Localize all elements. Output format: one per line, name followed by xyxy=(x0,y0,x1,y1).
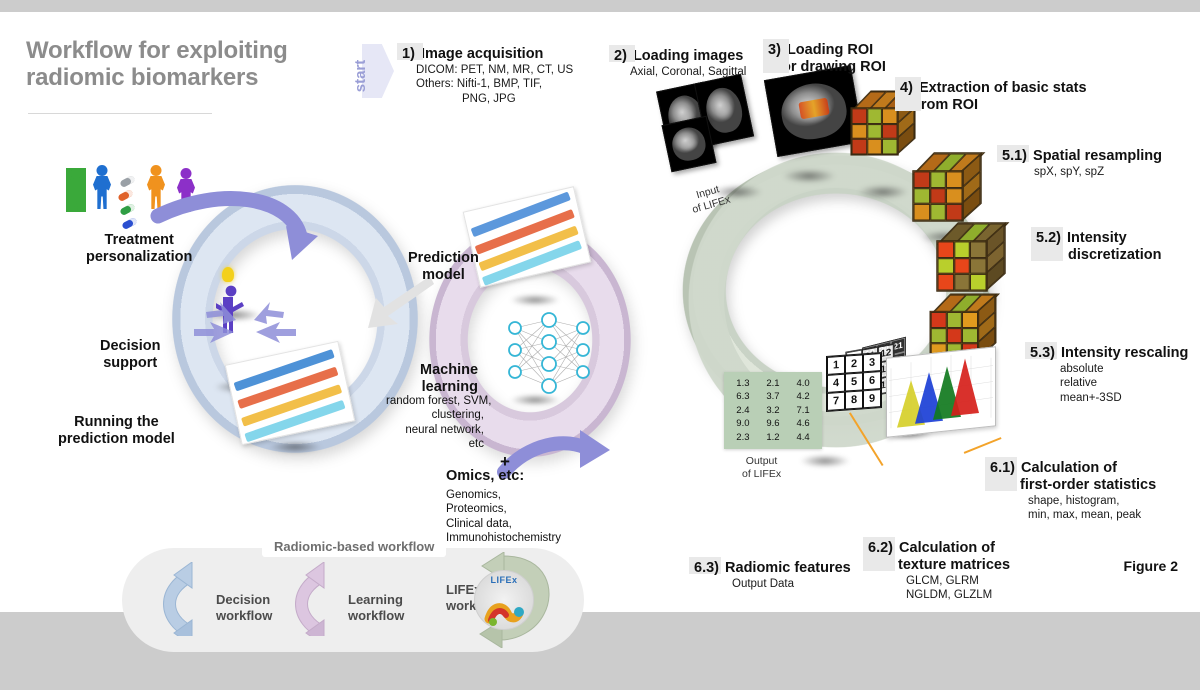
step-5-1-sub: spX, spY, spZ xyxy=(1034,165,1162,179)
page-title: Workflow for exploiting radiomic biomark… xyxy=(26,38,356,92)
texture-matrix-front: 123 456 789 xyxy=(826,352,882,412)
step-1-sub: DICOM: PET, NM, MR, CT, US Others: Nifti… xyxy=(416,63,573,106)
step-6-1-sub: shape, histogram, min, max, mean, peak xyxy=(1028,494,1156,523)
lifex-logo: LIFEx xyxy=(474,570,534,630)
ring-shadow xyxy=(500,292,570,308)
table-row: 2.43.27.1 xyxy=(730,404,816,417)
step-5-2-title-line2: discretization xyxy=(1068,247,1161,264)
neural-network-icon xyxy=(505,312,593,396)
step-1: 1) Image acquisition DICOM: PET, NM, MR,… xyxy=(400,46,573,106)
step-2-title: Loading images xyxy=(633,48,743,64)
legend-title: Radiomic-based workflow xyxy=(262,536,446,557)
step-4-header: 4) Extraction of basic stats from ROI xyxy=(898,80,1087,114)
output-note-line1: Output xyxy=(742,455,781,468)
step-1-number: 1) xyxy=(400,46,417,63)
decision-support-label: Decision support xyxy=(100,338,160,373)
legend-item-learning: Learning workflow xyxy=(348,592,404,623)
voxel-cube-5-2 xyxy=(936,222,1005,291)
step-1-header: 1) Image acquisition xyxy=(400,46,573,63)
step-6-3-title: Radiomic features xyxy=(725,560,851,576)
step-5-1: 5.1) Spatial resampling spX, spY, spZ xyxy=(1000,148,1162,179)
omics-sub: Genomics, Proteomics, Clinical data, Imm… xyxy=(446,488,561,546)
step-2-header: 2) Loading images xyxy=(612,48,746,65)
step-6-3-sub: Output Data xyxy=(732,577,851,591)
step-3-number: 3) xyxy=(766,42,783,59)
omics-title: Omics, etc: xyxy=(446,468,524,485)
learning-workflow-arrow-icon xyxy=(280,562,334,636)
prediction-model-label: Prediction model xyxy=(408,250,479,285)
lightbulb-icon xyxy=(222,267,234,282)
step-5-3-title: Intensity rescaling xyxy=(1061,345,1188,361)
ring-shadow xyxy=(790,452,860,470)
running-prediction-model-label: Running the prediction model xyxy=(58,414,175,449)
decision-spread-arrows-icon xyxy=(180,296,310,356)
person-icon-blue xyxy=(92,165,112,209)
machine-learning-label: Machine learning xyxy=(420,362,478,397)
step-5-2: 5.2) Intensity discretization xyxy=(1034,230,1161,264)
table-row: 2.31.24.4 xyxy=(730,431,816,444)
output-of-lifex-note: Output of LIFEx xyxy=(742,455,781,480)
step-2: 2) Loading images Axial, Coronal, Sagitt… xyxy=(612,48,746,79)
decision-workflow-arrow-icon xyxy=(148,562,202,636)
step-5-3-number: 5.3) xyxy=(1028,345,1057,362)
start-label: start xyxy=(332,54,388,98)
step-3-title-line2: or drawing ROI xyxy=(782,59,886,76)
step-5-3: 5.3) Intensity rescaling absolute relati… xyxy=(1028,345,1188,405)
step-4-title-line1: Extraction of basic stats xyxy=(919,80,1087,96)
step-5-1-number: 5.1) xyxy=(1000,148,1029,165)
step-5-2-title-line1: Intensity xyxy=(1067,230,1127,246)
step-6-1: 6.1) Calculation of first-order statisti… xyxy=(988,460,1156,523)
step-6-1-number: 6.1) xyxy=(988,460,1017,477)
voxel-cube-5-1 xyxy=(912,152,981,221)
step-3-header: 3) Loading ROI or drawing ROI xyxy=(766,42,886,76)
step-2-number: 2) xyxy=(612,48,629,65)
histogram-svg xyxy=(887,347,995,436)
output-data-table: 1.32.14.0 6.33.74.2 2.43.27.1 9.09.64.6 … xyxy=(724,372,822,449)
legend-item-decision: Decision workflow xyxy=(216,592,272,623)
step-6-2-title-line1: Calculation of xyxy=(899,540,995,556)
step-6-1-title-line1: Calculation of xyxy=(1021,460,1117,476)
step-4-title-line2: from ROI xyxy=(916,97,1087,114)
page-title-line2: radiomic biomarkers xyxy=(26,65,356,92)
step-6-2-header: 6.2) Calculation of texture matrices xyxy=(866,540,1010,574)
step-5-3-sub: absolute relative mean+-3SD xyxy=(1060,362,1188,405)
ring-shadow xyxy=(772,166,846,186)
step-6-3-header: 6.3) Radiomic features xyxy=(692,560,851,577)
step-6-1-title-line2: first-order statistics xyxy=(1020,477,1156,494)
step-5-1-header: 5.1) Spatial resampling xyxy=(1000,148,1162,165)
step-1-title: Image acquisition xyxy=(421,46,543,62)
table-row: 9.09.64.6 xyxy=(730,417,816,430)
step-5-1-title: Spatial resampling xyxy=(1033,148,1162,164)
step-4: 4) Extraction of basic stats from ROI xyxy=(898,80,1087,114)
figure-caption: Figure 2 xyxy=(1124,558,1178,574)
histogram-plot xyxy=(886,346,996,438)
step-4-number: 4) xyxy=(898,80,915,97)
step-6-2-title-line2: texture matrices xyxy=(898,557,1010,574)
step-5-2-header: 5.2) Intensity discretization xyxy=(1034,230,1161,264)
ring-shadow xyxy=(848,182,918,202)
step-3-title-line1: Loading ROI xyxy=(787,42,873,58)
page-title-line1: Workflow for exploiting xyxy=(26,38,356,65)
output-note-line2: of LIFEx xyxy=(742,468,781,481)
step-2-sub: Axial, Coronal, Sagittal xyxy=(630,65,746,79)
step-6-2-number: 6.2) xyxy=(866,540,895,557)
step-6-2-sub: GLCM, GLRM NGLDM, GLZLM xyxy=(906,574,1010,603)
step-6-3-number: 6.3) xyxy=(692,560,721,577)
ring-shadow xyxy=(258,438,332,456)
step-6-3: 6.3) Radiomic features Output Data xyxy=(692,560,851,591)
step-3: 3) Loading ROI or drawing ROI xyxy=(766,42,886,76)
step-5-3-header: 5.3) Intensity rescaling xyxy=(1028,345,1188,362)
treatment-personalization-label: Treatment personalization xyxy=(86,232,192,267)
lifex-logo-graphic xyxy=(475,579,533,630)
title-divider xyxy=(28,113,212,114)
step-5-2-number: 5.2) xyxy=(1034,230,1063,247)
table-row: 6.33.74.2 xyxy=(730,390,816,403)
step-6-1-header: 6.1) Calculation of first-order statisti… xyxy=(988,460,1156,494)
person-icon-green xyxy=(66,168,86,212)
figure-canvas: Workflow for exploiting radiomic biomark… xyxy=(0,0,1200,690)
table-row: 1.32.14.0 xyxy=(730,377,816,390)
step-6-2: 6.2) Calculation of texture matrices GLC… xyxy=(866,540,1010,603)
machine-learning-sub: random forest, SVM, clustering, neural n… xyxy=(386,394,484,452)
mri-slice-axial xyxy=(662,116,717,173)
